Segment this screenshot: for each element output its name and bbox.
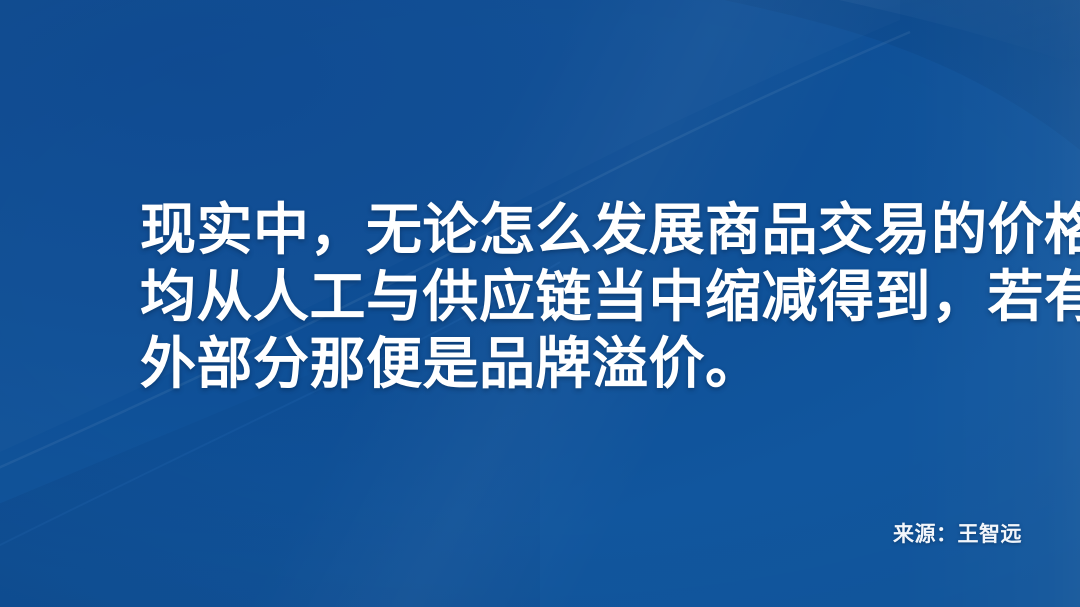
quote-slide: 现实中，无论怎么发展商品交易的价格差 均从人工与供应链当中缩减得到，若有额 外部… [0, 0, 1080, 607]
quote-line-2: 均从人工与供应链当中缩减得到，若有额 [140, 265, 960, 332]
slide-content: 现实中，无论怎么发展商品交易的价格差 均从人工与供应链当中缩减得到，若有额 外部… [0, 0, 1080, 607]
quote-line-3: 外部分那便是品牌溢价。 [140, 332, 960, 399]
attribution-source: 来源：王智远 [893, 518, 1022, 548]
quote-text-block: 现实中，无论怎么发展商品交易的价格差 均从人工与供应链当中缩减得到，若有额 外部… [140, 198, 960, 399]
quote-line-1: 现实中，无论怎么发展商品交易的价格差 [140, 198, 960, 265]
